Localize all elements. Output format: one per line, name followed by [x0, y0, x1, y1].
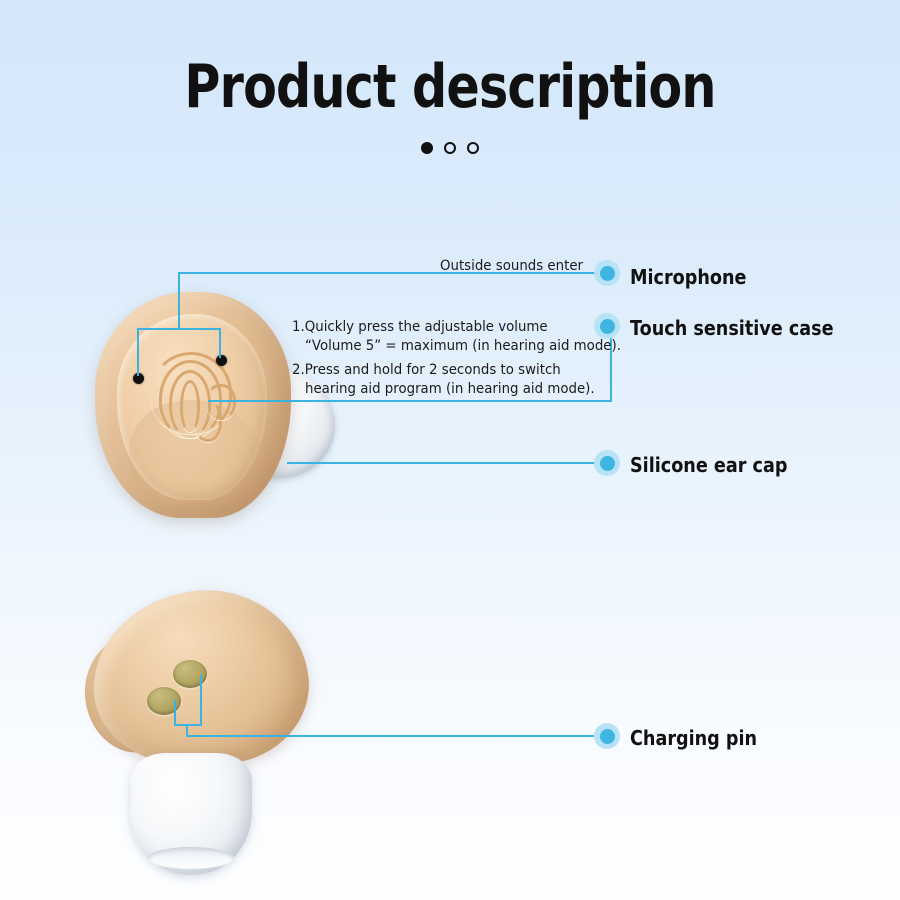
callout-label-touch-sensitive-case: Touch sensitive case: [630, 316, 834, 340]
blue-dot-icon: [600, 456, 615, 471]
earbud-bottom-view-image: [85, 575, 350, 885]
pagination-dots[interactable]: [0, 142, 900, 154]
blue-dot-icon: [600, 729, 615, 744]
pagination-dot-3[interactable]: [467, 142, 479, 154]
touch-instruction-2-line2: hearing aid program (in hearing aid mode…: [305, 380, 595, 399]
pagination-dot-2[interactable]: [444, 142, 456, 154]
microphone-port-right: [216, 355, 227, 366]
callout-label-silicone-ear-cap: Silicone ear cap: [630, 453, 787, 477]
touch-instruction-2-text: Press and hold for 2 seconds to switch: [305, 362, 561, 378]
callout-label-charging-pin: Charging pin: [630, 726, 757, 750]
product-description-page: Product description Outside sounds: [0, 0, 900, 900]
silicone-ear-cap-marker[interactable]: [594, 450, 620, 476]
blue-dot-icon: [600, 319, 615, 334]
touch-sensitive-marker[interactable]: [594, 313, 620, 339]
charging-pin-marker[interactable]: [594, 723, 620, 749]
blue-dot-icon: [600, 266, 615, 281]
touch-instruction-1-line1: 1.Quickly press the adjustable volume: [292, 318, 548, 337]
page-title: Product description: [81, 52, 819, 122]
touch-instruction-1-line2: “Volume 5” = maximum (in hearing aid mod…: [305, 337, 621, 356]
touch-instruction-2-line1: 2.Press and hold for 2 seconds to switch: [292, 361, 561, 380]
pagination-dot-1[interactable]: [421, 142, 433, 154]
microphone-marker[interactable]: [594, 260, 620, 286]
touch-instruction-2-number: 2.: [292, 362, 305, 378]
callout-label-microphone: Microphone: [630, 265, 746, 289]
microphone-note: Outside sounds enter: [440, 257, 583, 276]
touch-instruction-1-text: Quickly press the adjustable volume: [305, 319, 548, 335]
silicone-dome-rim: [148, 847, 234, 869]
touch-instruction-1-number: 1.: [292, 319, 305, 335]
